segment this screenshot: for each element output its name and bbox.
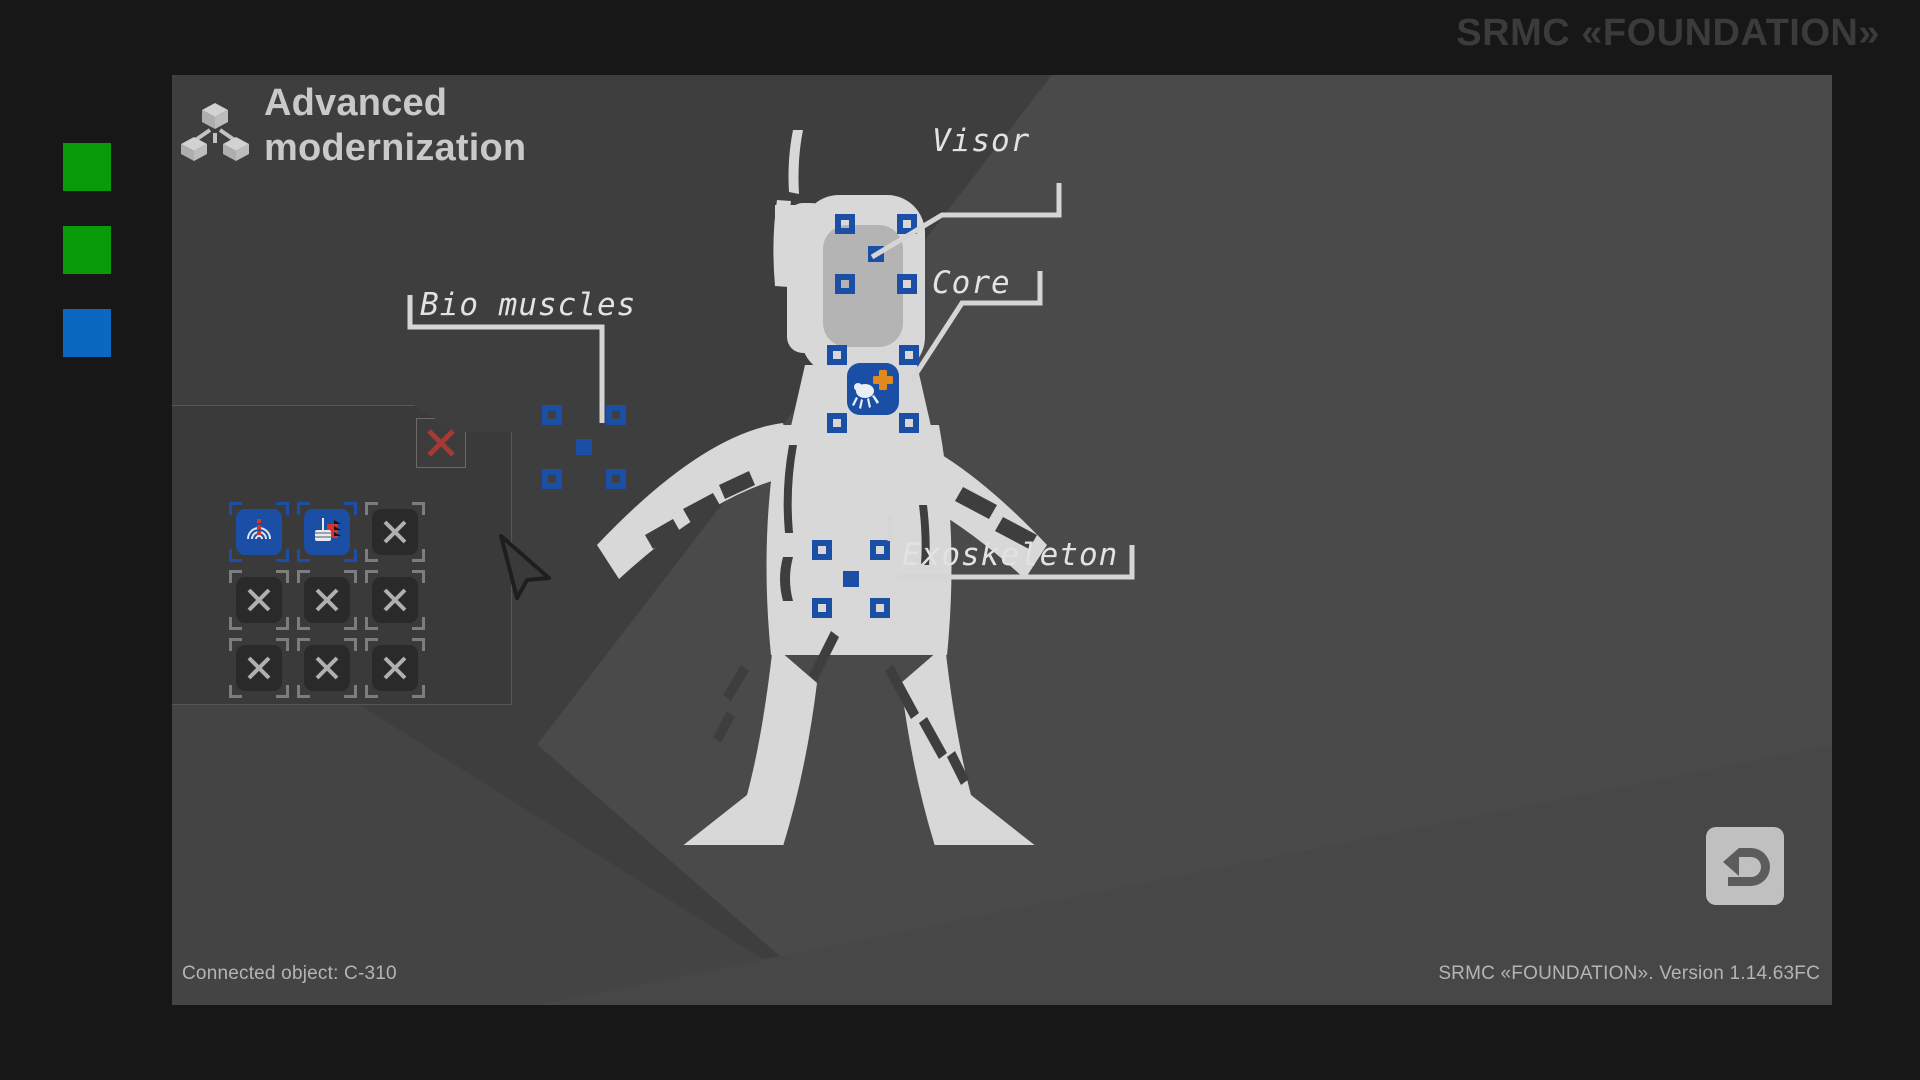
status-chip-1[interactable] <box>63 143 111 191</box>
empty-slot-x-icon <box>381 518 409 546</box>
item-tile <box>236 509 282 555</box>
annotation-core: Core <box>932 265 1011 301</box>
inventory-grid <box>225 498 429 702</box>
inventory-slot-5[interactable] <box>361 566 429 634</box>
inventory-slot-6[interactable] <box>225 634 293 702</box>
item-tile <box>372 645 418 691</box>
app-brand-title: SRMC «FOUNDATION» <box>1456 12 1880 55</box>
item-tile <box>236 577 282 623</box>
empty-slot-x-icon <box>313 586 341 614</box>
item-tile <box>372 509 418 555</box>
main-window: Advanced modernization <box>172 75 1832 1005</box>
inventory-slot-8[interactable] <box>361 634 429 702</box>
item-tile <box>304 645 350 691</box>
item-tile <box>304 577 350 623</box>
empty-slot-x-icon <box>381 586 409 614</box>
empty-slot-x-icon <box>245 586 273 614</box>
empty-slot-x-icon <box>381 654 409 682</box>
app-screen: SRMC «FOUNDATION» <box>0 0 1920 1080</box>
back-button[interactable] <box>1706 827 1784 905</box>
signal-emitter-icon <box>241 514 277 550</box>
inventory-slot-0[interactable] <box>225 498 293 566</box>
empty-slot-x-icon <box>313 654 341 682</box>
back-arrow-icon <box>1717 838 1773 894</box>
annotation-exoskeleton: Exoskeleton <box>902 537 1118 573</box>
inventory-slot-4[interactable] <box>293 566 361 634</box>
empty-slot-x-icon <box>245 654 273 682</box>
scanner-device-icon <box>309 514 345 550</box>
annotation-visor: Visor <box>932 123 1030 159</box>
item-tile <box>372 577 418 623</box>
version-status: SRMC «FOUNDATION». Version 1.14.63FC <box>1438 963 1820 985</box>
close-x-icon <box>424 426 458 460</box>
inventory-panel <box>172 405 512 705</box>
inventory-slot-3[interactable] <box>225 566 293 634</box>
item-tile <box>304 509 350 555</box>
inventory-slot-7[interactable] <box>293 634 361 702</box>
annotation-bio-muscles: Bio muscles <box>420 287 636 323</box>
inventory-slot-2[interactable] <box>361 498 429 566</box>
status-chip-2[interactable] <box>63 226 111 274</box>
connected-object-status: Connected object: C-310 <box>182 963 397 985</box>
inventory-slot-1[interactable] <box>293 498 361 566</box>
status-chip-3[interactable] <box>63 309 111 357</box>
status-rail <box>63 143 111 392</box>
mouse-pointer-icon <box>497 530 559 602</box>
item-tile <box>236 645 282 691</box>
